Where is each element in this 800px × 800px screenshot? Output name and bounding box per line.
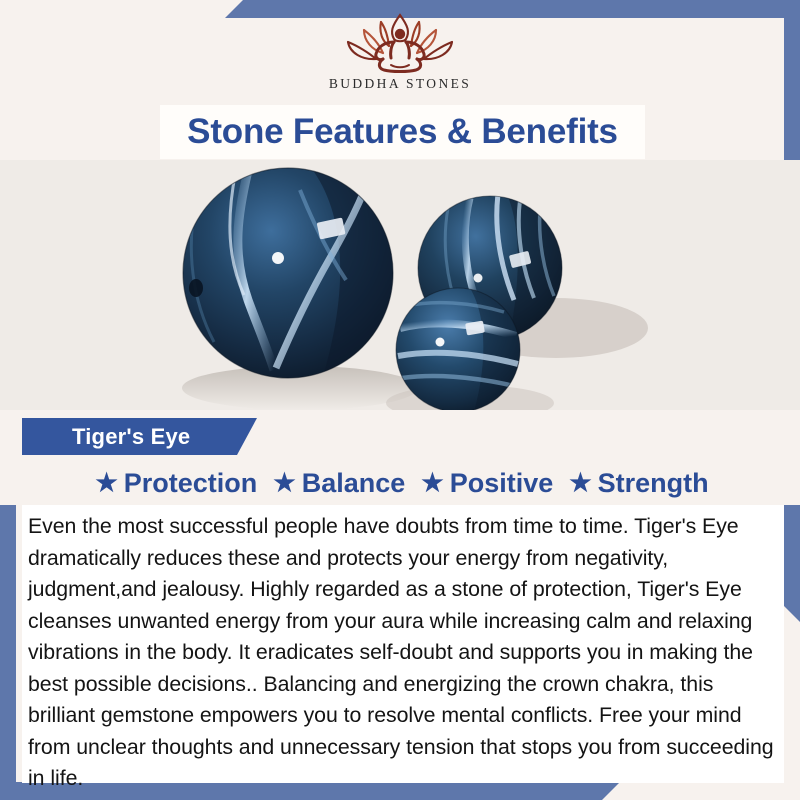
- star-icon: ★: [273, 471, 295, 496]
- stone-photo: [0, 160, 800, 410]
- star-icon: ★: [569, 471, 591, 496]
- stone-photo-illustration: [0, 160, 800, 410]
- benefit-item: ★ Balance: [263, 468, 411, 499]
- benefit-label: Strength: [598, 468, 715, 499]
- star-icon: ★: [95, 471, 117, 496]
- benefit-item: ★ Strength: [559, 468, 714, 499]
- benefit-label: Protection: [124, 468, 264, 499]
- infographic-page: BUDDHA STONES Stone Features & Benefits: [0, 0, 800, 800]
- lotus-meditation-icon: [334, 8, 466, 78]
- page-title: Stone Features & Benefits: [187, 112, 618, 152]
- benefit-label: Balance: [302, 468, 412, 499]
- star-icon: ★: [421, 471, 443, 496]
- stone-name-tag: Tiger's Eye: [22, 418, 257, 455]
- brand-name: BUDDHA STONES: [329, 76, 471, 92]
- benefit-item: ★ Positive: [411, 468, 559, 499]
- description-text: Even the most successful people have dou…: [28, 511, 780, 795]
- benefits-row: ★ Protection ★ Balance ★ Positive ★ Stre…: [0, 462, 800, 505]
- benefit-item: ★ Protection: [85, 468, 263, 499]
- brand-logo: BUDDHA STONES: [0, 8, 800, 104]
- stone-name-label: Tiger's Eye: [22, 424, 190, 450]
- description-block: Even the most successful people have dou…: [22, 505, 784, 783]
- title-banner: Stone Features & Benefits: [160, 105, 645, 159]
- benefit-label: Positive: [450, 468, 560, 499]
